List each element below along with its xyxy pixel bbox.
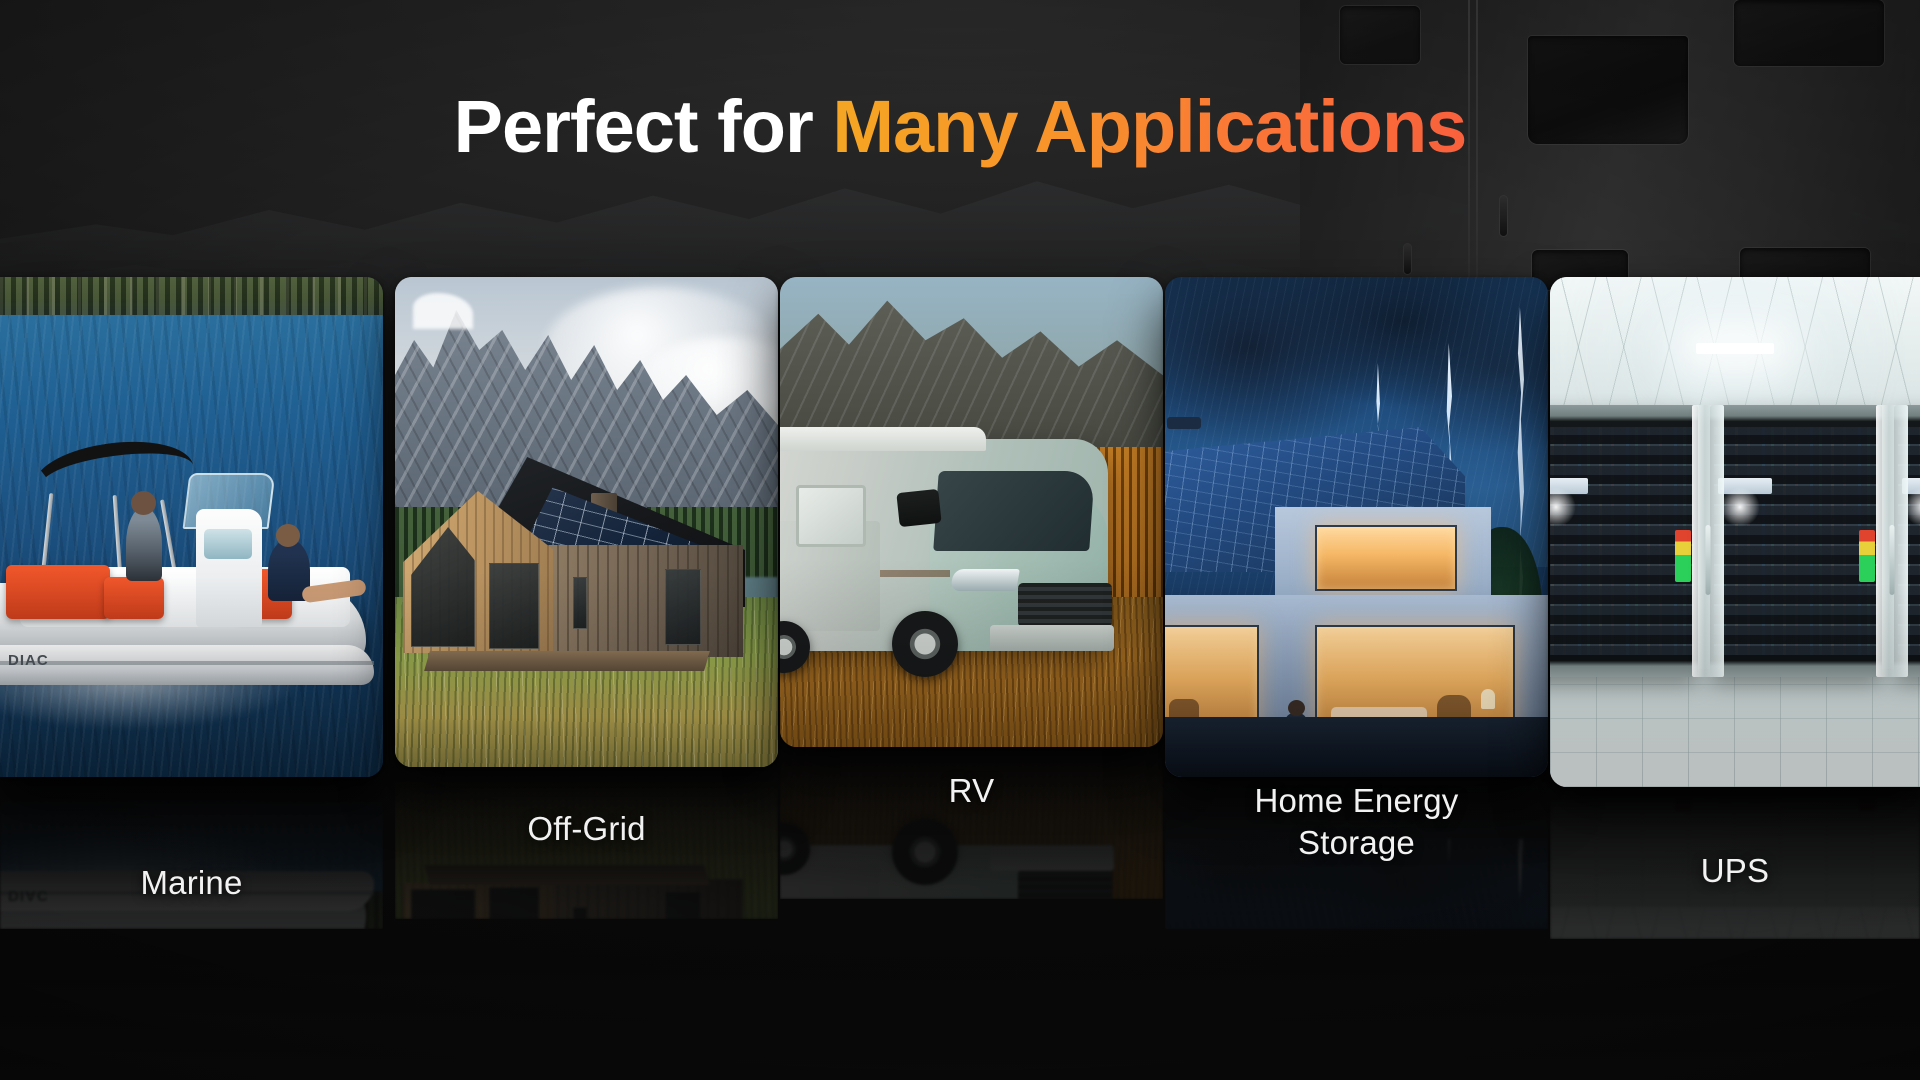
application-label-home-energy-storage-line2: Storage: [1298, 824, 1415, 861]
page-title: Perfect for Many Applications: [0, 88, 1920, 166]
application-card-ups[interactable]: [1550, 277, 1920, 787]
off-grid-photo: [395, 277, 778, 767]
application-label-home-energy-storage-line1: Home Energy: [1255, 782, 1459, 819]
application-card-off-grid[interactable]: [395, 277, 778, 767]
page-title-accent: Many Applications: [832, 85, 1466, 168]
application-label-rv: RV: [780, 770, 1163, 812]
application-label-ups: UPS: [1550, 850, 1920, 892]
rv-photo: [780, 277, 1163, 747]
slide-root: Perfect for Many Applications: [0, 0, 1920, 1080]
application-label-home-energy-storage: Home EnergyStorage: [1165, 780, 1548, 864]
home-energy-storage-photo: [1165, 277, 1548, 777]
application-card-rv[interactable]: [780, 277, 1163, 747]
application-card-marine[interactable]: DIAC: [0, 277, 383, 777]
application-card-home-energy-storage[interactable]: [1165, 277, 1548, 777]
marine-photo: DIAC: [0, 779, 383, 929]
ups-photo: [1550, 277, 1920, 787]
application-card-row: DIAC: [0, 277, 1920, 797]
marine-photo: DIAC: [0, 277, 383, 777]
application-label-off-grid: Off-Grid: [395, 808, 778, 850]
card-reflection: DIAC: [0, 779, 383, 929]
page-title-plain: Perfect for: [454, 85, 833, 168]
application-label-marine: Marine: [0, 862, 383, 904]
